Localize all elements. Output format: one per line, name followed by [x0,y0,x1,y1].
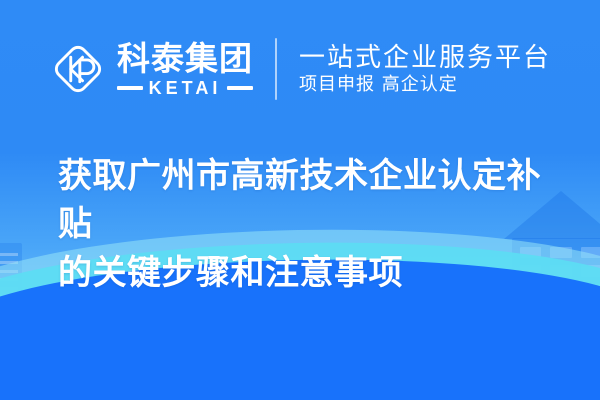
page-title-line-2: 的关键步骤和注意事项 [58,249,560,297]
brand-tagline: 一站式企业服务平台 项目申报 高企认定 [277,45,551,94]
ketai-diamond-kp-monogram-icon [49,40,107,98]
brand-logo[interactable]: 科泰集团 KETAI [49,40,275,98]
page-title-line-1: 获取广州市高新技术企业认定补贴 [58,152,560,249]
brand-name-en-row: KETAI [117,79,253,97]
tagline-secondary: 项目申报 高企认定 [299,76,551,94]
wordmark-dash-right [227,86,253,90]
brand-name-en: KETAI [149,79,222,97]
promo-banner: 科泰集团 KETAI 一站式企业服务平台 项目申报 高企认定 获取广州市高新技术… [0,0,600,400]
brand-name-cn: 科泰集团 [117,42,253,75]
page-title: 获取广州市高新技术企业认定补贴 的关键步骤和注意事项 [58,152,560,297]
banner-header: 科泰集团 KETAI 一站式企业服务平台 项目申报 高企认定 [0,38,600,100]
wordmark-dash-left [117,86,143,90]
brand-wordmark: 科泰集团 KETAI [117,42,253,97]
tagline-primary: 一站式企业服务平台 [299,45,551,71]
